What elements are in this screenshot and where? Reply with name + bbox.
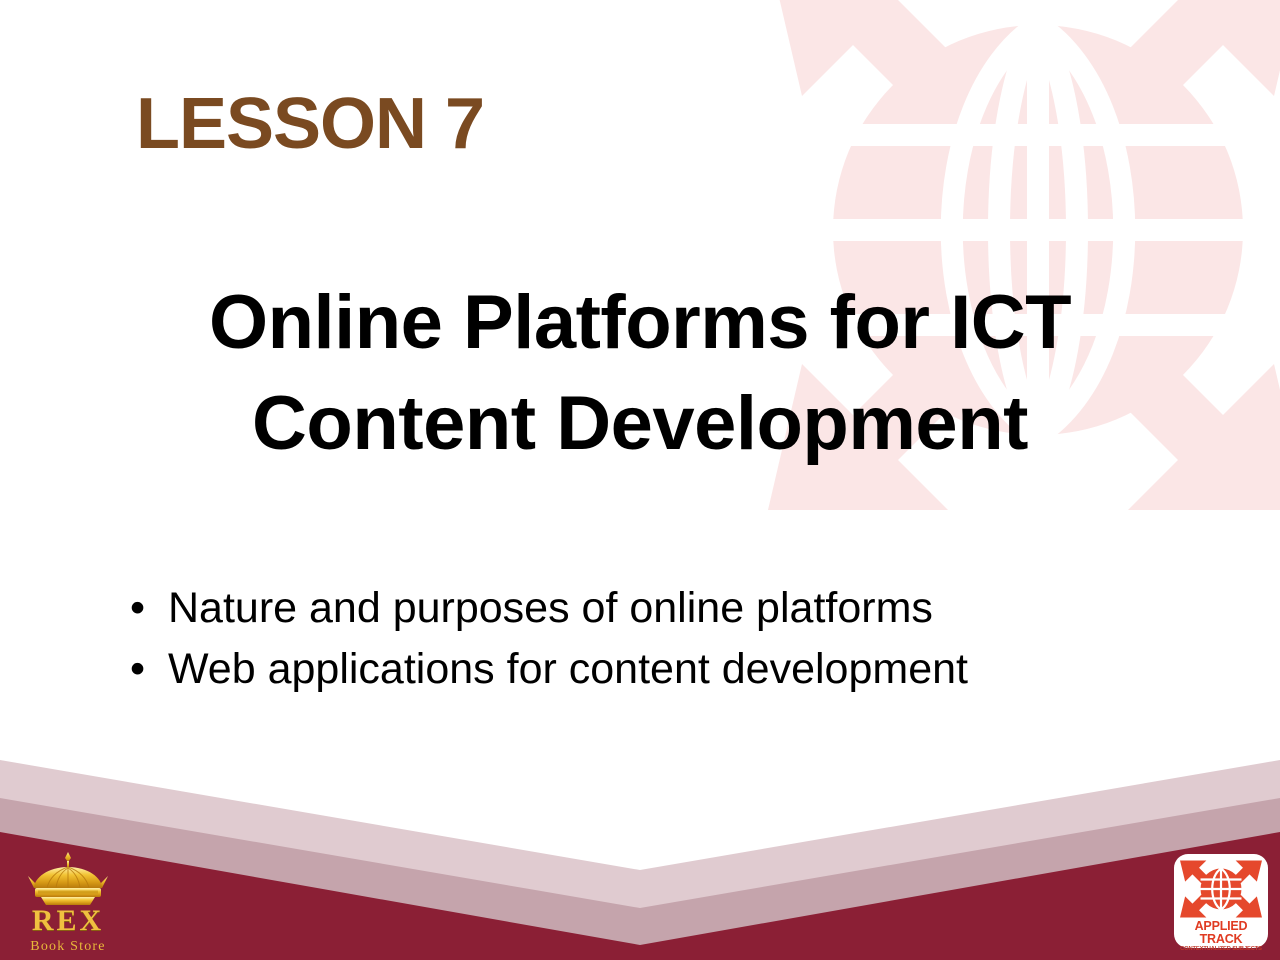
topic-bullet-list: • Nature and purposes of online platform…	[130, 578, 1190, 700]
rex-tagline: Book Store	[8, 940, 128, 954]
bullet-marker-icon: •	[130, 578, 168, 639]
bullet-marker-icon: •	[130, 639, 168, 700]
slide-content: LESSON 7 Online Platforms for ICT Conten…	[0, 0, 1280, 760]
slide-canvas: LESSON 7 Online Platforms for ICT Conten…	[0, 0, 1280, 960]
chevron-ribbon-icon	[0, 740, 1280, 960]
list-item: • Web applications for content developme…	[130, 639, 1190, 700]
applied-track-badge: APPLIED TRACK CONTEXTUALIZED SUBJECTS	[1174, 854, 1268, 948]
title-line-1: Online Platforms for ICT	[90, 272, 1190, 373]
lesson-number-heading: LESSON 7	[136, 88, 484, 160]
crown-icon	[8, 852, 128, 908]
title-line-2: Content Development	[90, 373, 1190, 474]
applied-track-title: APPLIED TRACK	[1177, 920, 1265, 945]
list-item-label: Web applications for content development	[168, 639, 968, 700]
list-item: • Nature and purposes of online platform…	[130, 578, 1190, 639]
page-title: Online Platforms for ICT Content Develop…	[90, 272, 1190, 474]
globe-arrows-icon	[1177, 859, 1265, 919]
applied-track-subtitle: CONTEXTUALIZED SUBJECTS	[1176, 947, 1266, 953]
rex-wordmark: REX	[8, 906, 128, 936]
rex-book-store-logo: REX Book Store	[8, 852, 128, 958]
list-item-label: Nature and purposes of online platforms	[168, 578, 933, 639]
